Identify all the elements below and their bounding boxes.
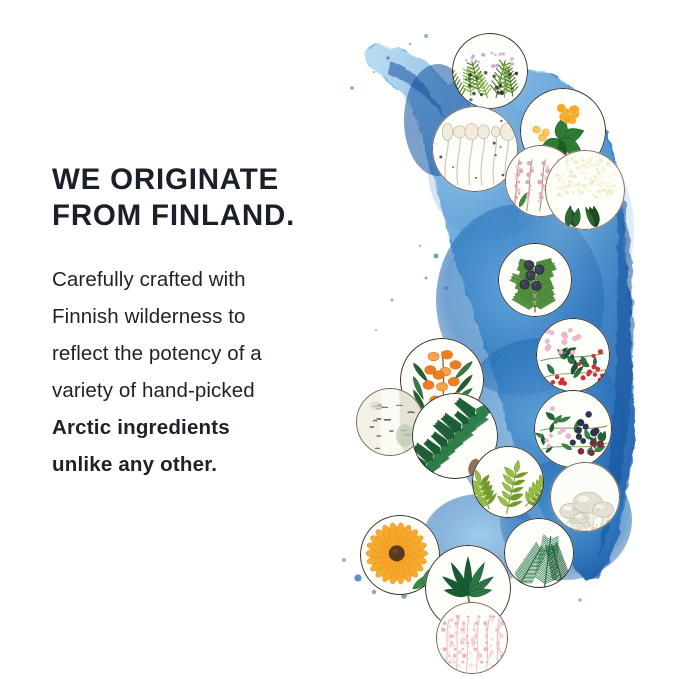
bilberry-circle-art xyxy=(534,390,612,468)
rowan-leaf-circle xyxy=(472,446,544,518)
pink-sprig-circle xyxy=(436,602,508,674)
blueberry-circle-art xyxy=(498,243,572,317)
poster-canvas: WE ORIGINATE FROM FINLAND. Carefully cra… xyxy=(0,0,679,679)
body-copy-line: variety of hand-picked xyxy=(52,372,352,409)
heather-circle-art xyxy=(452,33,528,109)
mushroom-circle-art xyxy=(550,462,620,532)
page-title: WE ORIGINATE FROM FINLAND. xyxy=(52,162,352,235)
rowan-leaf-circle-art xyxy=(472,446,544,518)
blueberry-circle xyxy=(498,243,572,317)
headline-line-2: FROM FINLAND. xyxy=(52,198,352,234)
heather-circle xyxy=(452,33,528,109)
mushroom-circle xyxy=(550,462,620,532)
lingonberry-blossom-circle xyxy=(536,318,610,392)
headline-line-1: WE ORIGINATE xyxy=(52,163,279,196)
copy-block: WE ORIGINATE FROM FINLAND. Carefully cra… xyxy=(52,162,352,483)
meadowsweet-circle-art xyxy=(545,150,625,230)
pink-sprig-circle-art xyxy=(436,602,508,674)
pine-needle-circle xyxy=(504,518,574,588)
body-copy-line: Arctic ingredients xyxy=(52,409,352,446)
body-copy: Carefully crafted withFinnish wilderness… xyxy=(52,261,352,483)
map-illustration xyxy=(330,0,679,679)
body-copy-line: Finnish wilderness to xyxy=(52,298,352,335)
meadowsweet-circle xyxy=(545,150,625,230)
bilberry-circle xyxy=(534,390,612,468)
pine-needle-circle-art xyxy=(504,518,574,588)
body-copy-line: Carefully crafted with xyxy=(52,261,352,298)
body-copy-line: unlike any other. xyxy=(52,446,352,483)
body-copy-line: reflect the potency of a xyxy=(52,335,352,372)
lingonberry-blossom-circle-art xyxy=(536,318,610,392)
